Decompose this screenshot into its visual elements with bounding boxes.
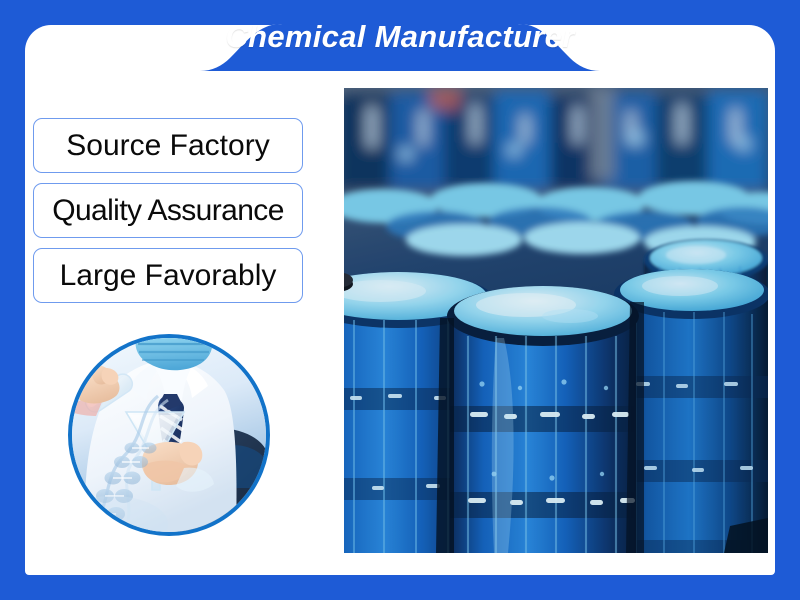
chemical-drums-photo: Rows of blue steel chemical drums with l… <box>344 88 768 553</box>
feature-label: Large Favorably <box>60 261 277 291</box>
feature-label: Quality Assurance <box>52 196 284 226</box>
feature-list: Source Factory Quality Assurance Large F… <box>33 118 303 313</box>
poster-canvas: Chemical Manufacturer Source Factory Qua… <box>0 0 800 600</box>
feature-box-large-favorably[interactable]: Large Favorably <box>33 248 303 303</box>
feature-box-quality-assurance[interactable]: Quality Assurance <box>33 183 303 238</box>
feature-label: Source Factory <box>66 131 269 161</box>
feature-box-source-factory[interactable]: Source Factory <box>33 118 303 173</box>
laboratory-scientist-photo: Scientist in white lab coat and blue sur… <box>68 334 270 536</box>
